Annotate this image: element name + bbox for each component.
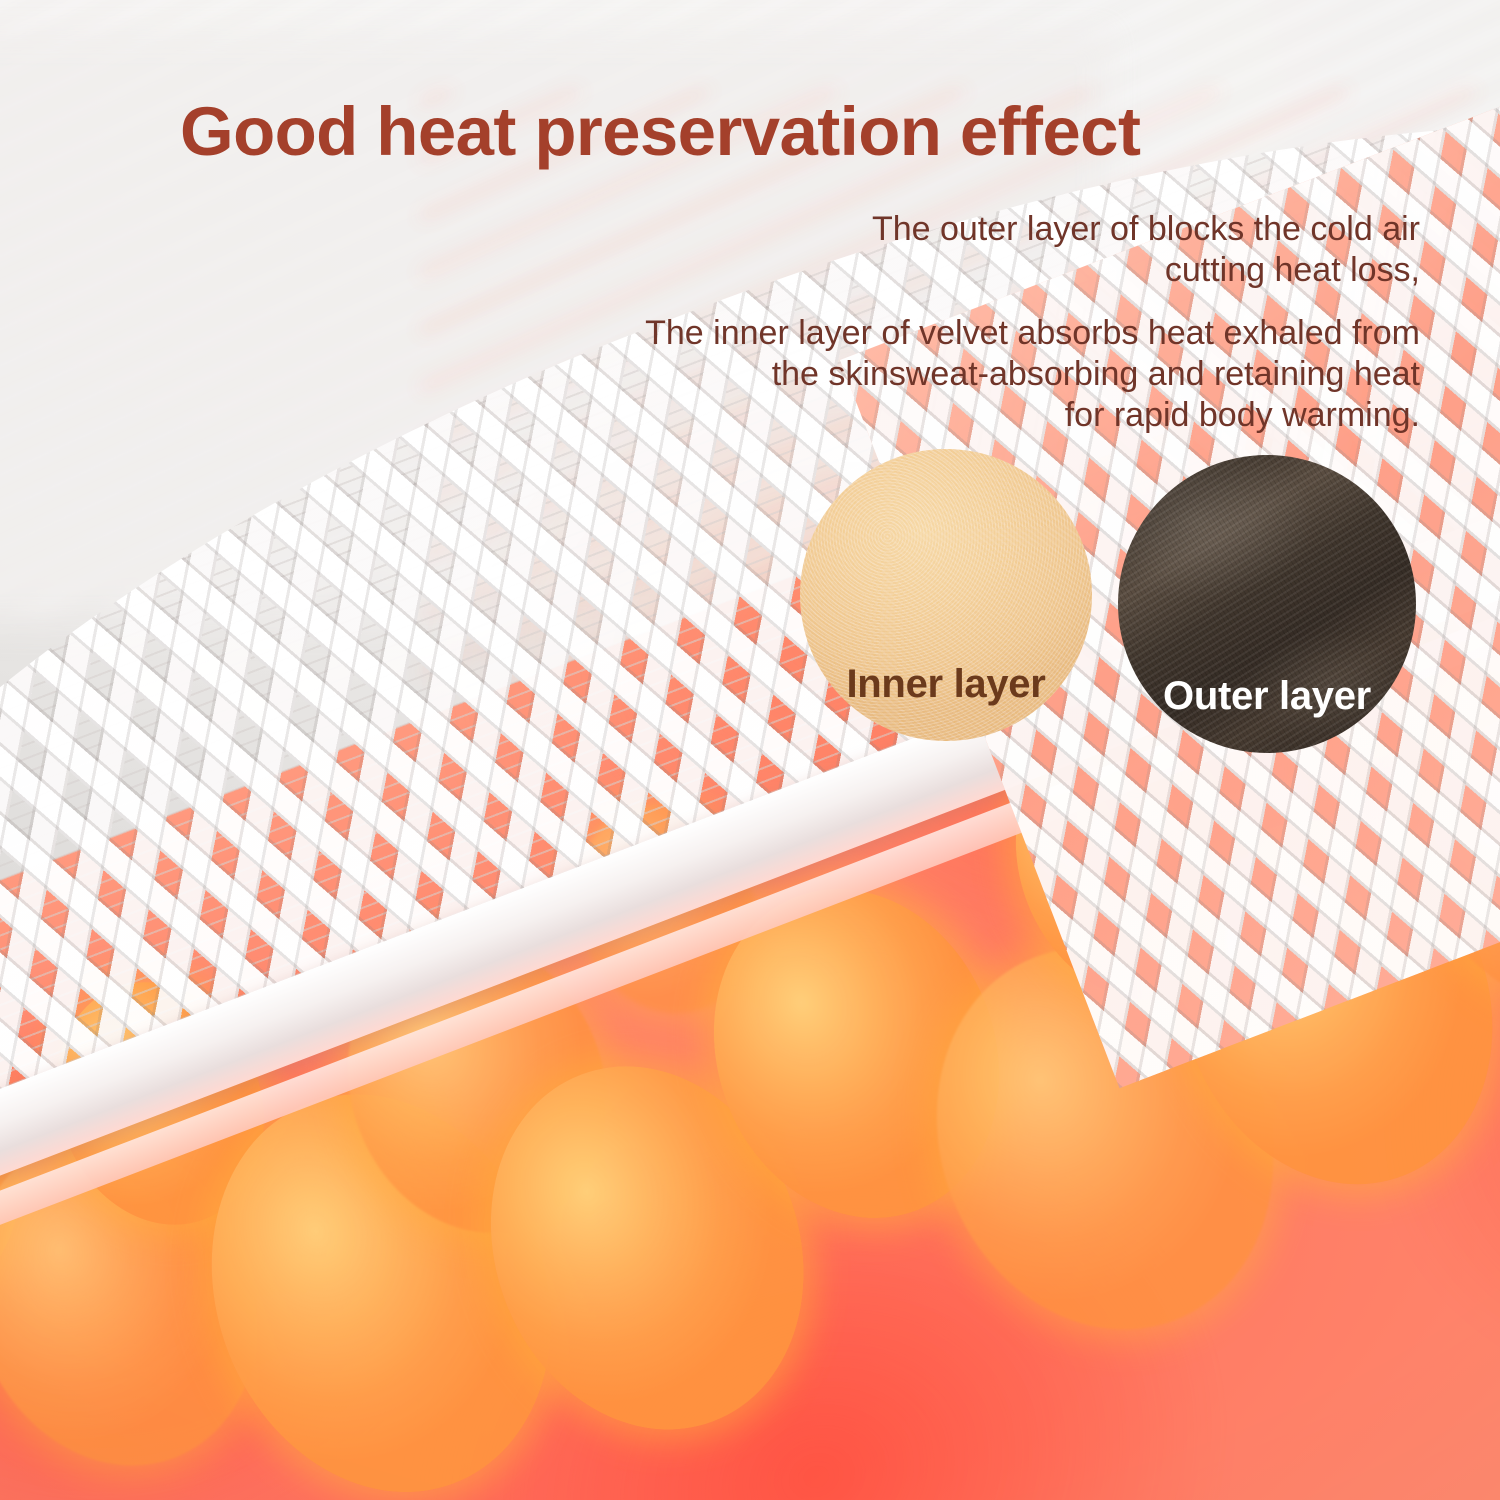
description-paragraph-outer-layer: The outer layer of blocks the cold air c…: [520, 209, 1420, 291]
swatch-label-inner-layer: Inner layer: [846, 662, 1045, 741]
swatch-label-outer-layer: Outer layer: [1163, 674, 1371, 753]
page-title: Good heat preservation effect: [180, 97, 1430, 166]
description-paragraph-inner-layer: The inner layer of velvet absorbs heat e…: [520, 313, 1420, 436]
promo-banner: Good heat preservation effect The outer …: [0, 0, 1500, 1500]
swatch-badge-outer-layer: Outer layer: [1118, 455, 1416, 753]
swatch-badge-inner-layer: Inner layer: [800, 449, 1092, 741]
